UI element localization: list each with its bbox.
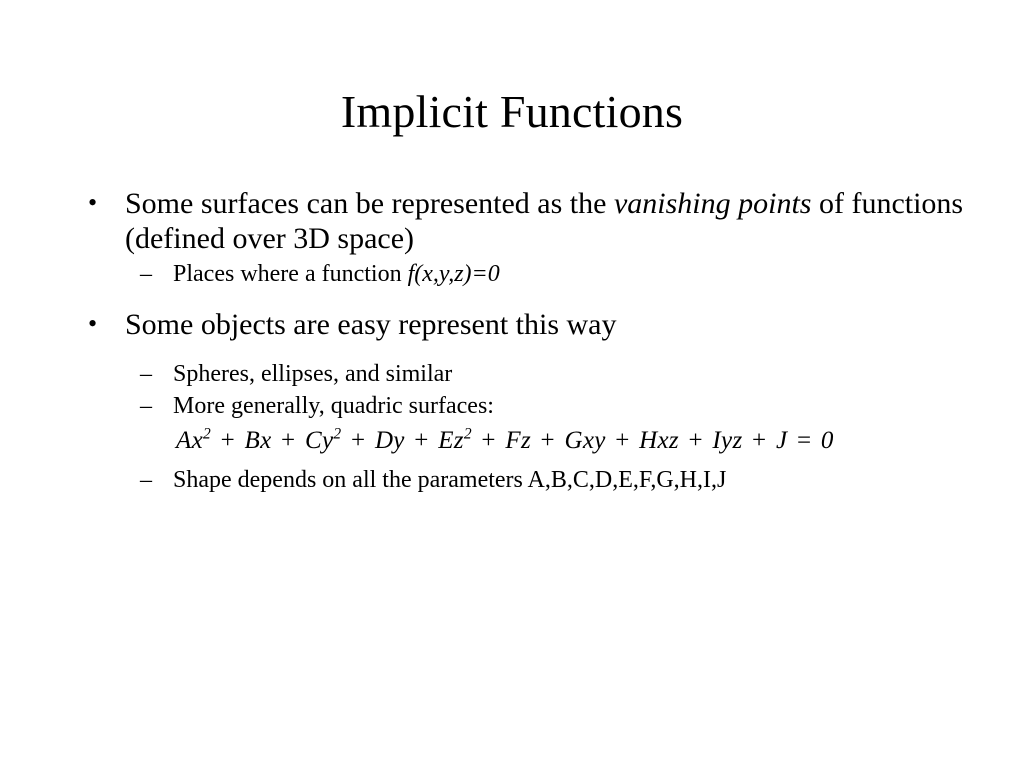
equation-term: Cy [305,427,333,454]
equation-operator: + [679,427,713,454]
equation-operator: + [211,427,245,454]
equation-term: Gxy [564,427,605,454]
sub-bullet-3-text: More generally, quadric surfaces: [173,393,494,419]
dash-marker-icon: – [140,360,152,388]
equation-term: Dy [375,427,405,454]
equation-exponent: 2 [203,426,211,443]
bullet-item-2-text: Some objects are easy represent this way [125,307,968,342]
bullet-1-lead-text: Some surfaces can be represented as the [125,187,614,220]
equation-row: Ax2 + Bx + Cy2 + Dy + Ez2 + Fz + Gxy + H… [78,426,968,456]
sub-bullet-item-1: – Places where a function f(x,y,z)=0 [78,260,968,288]
equation-operator: + [472,427,506,454]
section-spacer [78,344,968,356]
sub-bullet-4-text: Shape depends on all the parameters A,B,… [173,467,726,493]
equation-operator: + [405,427,439,454]
sub-bullet-1-lead-text: Places where a function [173,261,408,287]
equation-exponent: 2 [464,426,472,443]
sub-bullet-1-formula: f(x,y,z)=0 [408,261,500,287]
sub-bullet-item-2: – Spheres, ellipses, and similar [78,360,968,388]
equation-term: J [776,427,787,454]
equation-term: Ax [176,427,203,454]
equation-term: Hxz [639,427,679,454]
bullet-item-1-text: Some surfaces can be represented as the … [125,186,968,256]
sub-bullet-1-text: Places where a function f(x,y,z)=0 [173,261,500,287]
slide-body: • Some surfaces can be represented as th… [78,186,968,499]
bullet-item-1: • Some surfaces can be represented as th… [78,186,968,256]
equation-term: Bx [245,427,272,454]
equation-operator: + [742,427,776,454]
bullet-1-italic-phrase: vanishing points [614,187,812,220]
bullet-marker-icon: • [88,186,97,220]
equation-operator: + [606,427,640,454]
bullet-item-2: • Some objects are easy represent this w… [78,307,968,342]
equation-term: Iyz [712,427,742,454]
equation-right-hand-side: 0 [821,427,834,454]
quadric-surface-equation: Ax2 + Bx + Cy2 + Dy + Ez2 + Fz + Gxy + H… [176,427,834,454]
equation-relation: = [787,427,821,454]
sub-bullet-item-3: – More generally, quadric surfaces: [78,392,968,420]
dash-marker-icon: – [140,392,152,420]
equation-operator: + [272,427,306,454]
page-title: Implicit Functions [0,88,1024,136]
sub-bullet-2-text: Spheres, ellipses, and similar [173,361,452,387]
equation-term: Ez [438,427,464,454]
slide-canvas: Implicit Functions • Some surfaces can b… [0,0,1024,768]
equation-operator: + [531,427,565,454]
dash-marker-icon: – [140,466,152,494]
dash-marker-icon: – [140,260,152,288]
equation-term: Fz [505,427,531,454]
bullet-marker-icon: • [88,307,97,341]
equation-operator: + [341,427,375,454]
section-spacer [78,293,968,307]
sub-bullet-item-4: – Shape depends on all the parameters A,… [78,466,968,494]
